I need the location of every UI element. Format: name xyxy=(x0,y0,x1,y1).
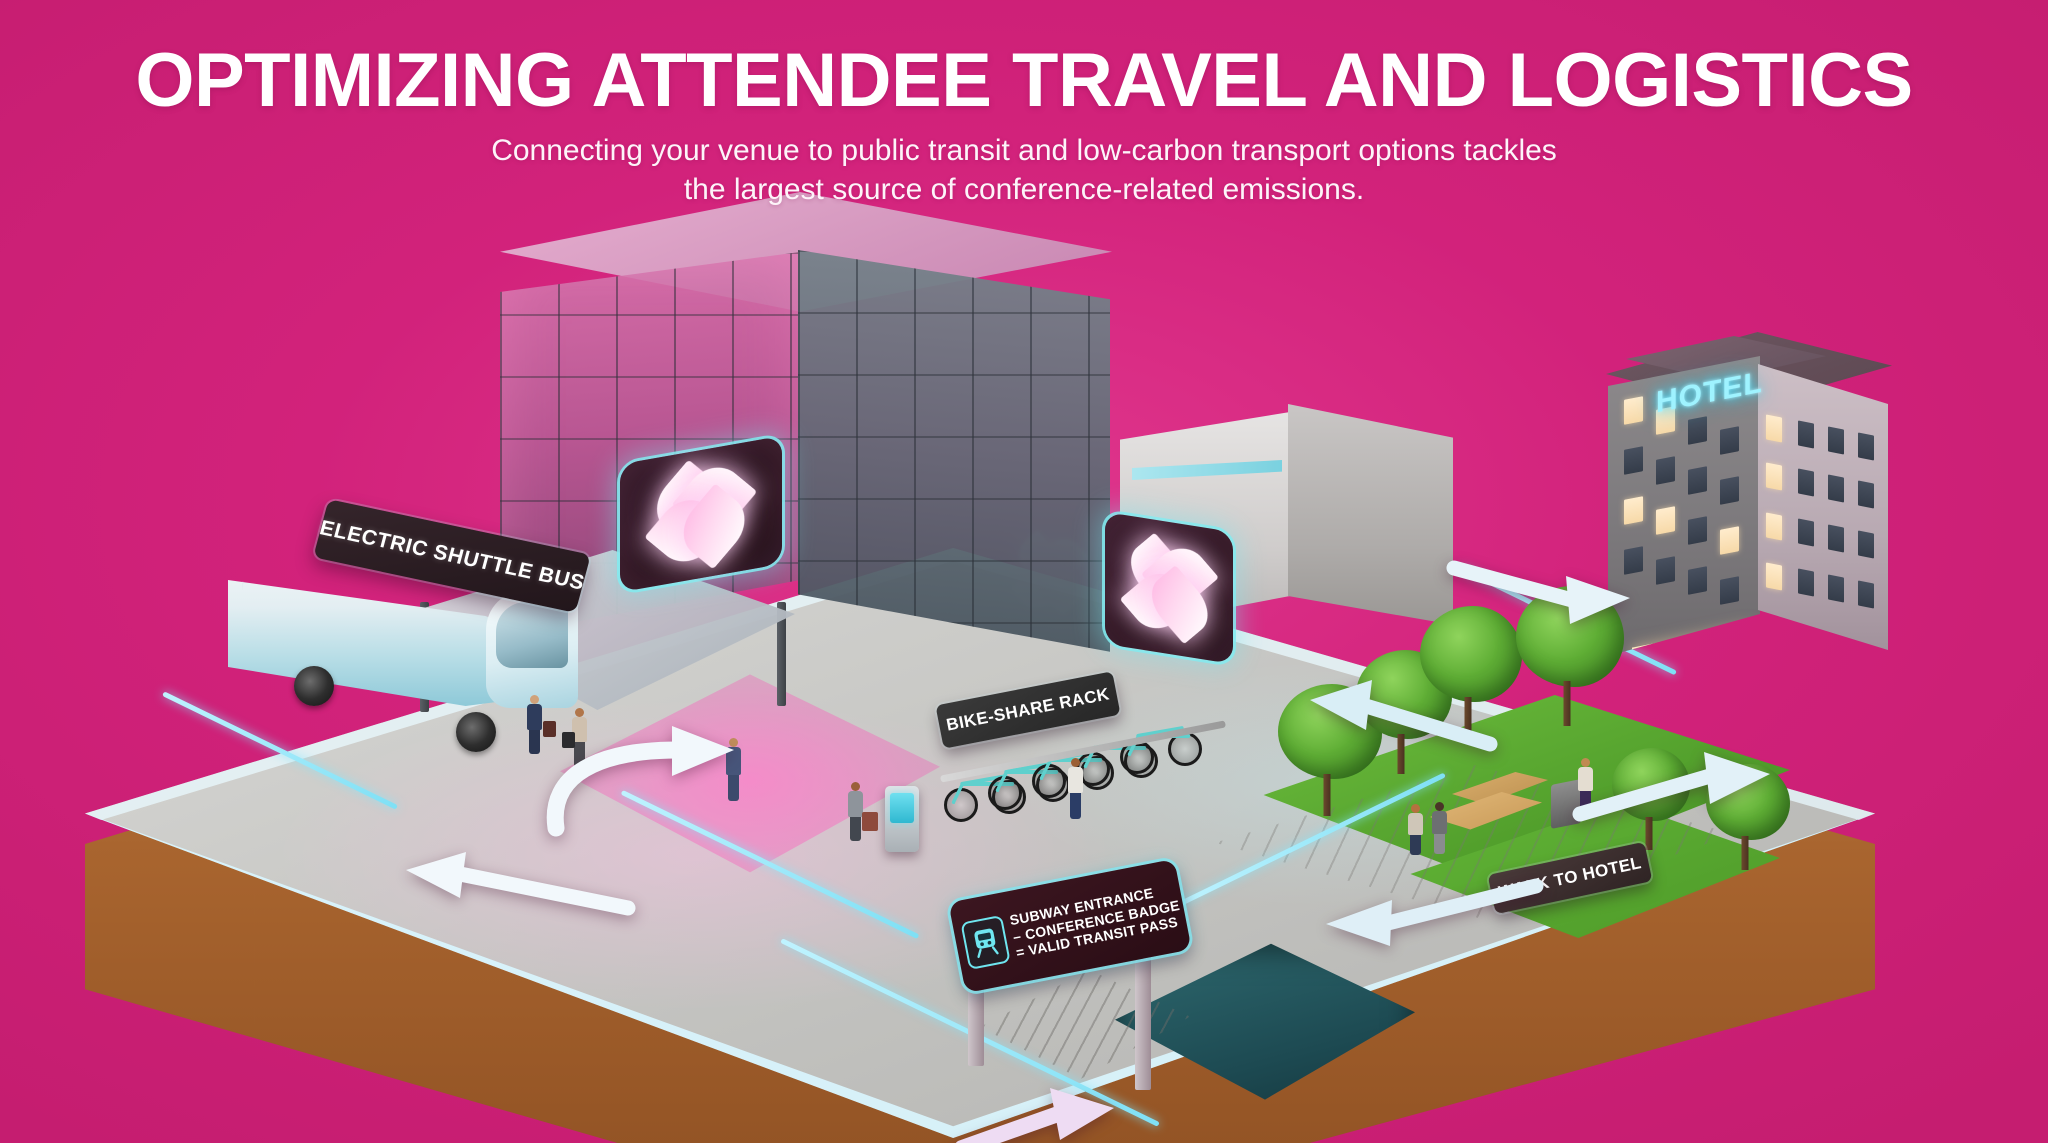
pedestrian xyxy=(1408,804,1423,855)
wayfinding-arrow-to-bus-stop xyxy=(398,850,648,926)
subway-sign-post-right xyxy=(1135,950,1151,1090)
bus-windshield xyxy=(496,602,568,668)
tree-trunk xyxy=(1323,774,1330,816)
train-icon xyxy=(960,915,1010,970)
subway-sign-text: SUBWAY ENTRANCE – CONFERENCE BADGE = VAL… xyxy=(1008,880,1184,961)
four-petal-flower-icon xyxy=(1105,512,1233,664)
venue-glass-mullions-right xyxy=(798,250,1110,660)
neon-flower-sign-b xyxy=(1105,512,1233,664)
bus-wheel xyxy=(456,712,496,752)
tree-trunk xyxy=(1742,836,1749,870)
subtitle-line-2: the largest source of conference-related… xyxy=(0,171,2048,209)
info-kiosk[interactable] xyxy=(885,786,919,852)
tree-trunk xyxy=(1563,681,1570,726)
attendee-with-suitcase xyxy=(848,782,863,841)
page-subtitle: Connecting your venue to public transit … xyxy=(0,132,2048,209)
pedestrian xyxy=(1432,802,1447,854)
header: OPTIMIZING ATTENDEE TRAVEL AND LOGISTICS… xyxy=(0,0,2048,209)
subtitle-line-1: Connecting your venue to public transit … xyxy=(0,132,2048,170)
wayfinding-arrow-to-hotel xyxy=(1440,538,1640,630)
kiosk-screen-icon[interactable] xyxy=(890,793,914,823)
wayfinding-arrow-plaza-return xyxy=(1310,862,1550,948)
page-title: OPTIMIZING ATTENDEE TRAVEL AND LOGISTICS xyxy=(0,44,2048,118)
isometric-diorama: HOTEL xyxy=(0,150,2048,1143)
hotel-right-facade xyxy=(1758,364,1888,650)
infographic-canvas: OPTIMIZING ATTENDEE TRAVEL AND LOGISTICS… xyxy=(0,0,2048,1143)
venue-right-facade xyxy=(798,250,1110,660)
hotel-building: HOTEL xyxy=(1598,298,1908,658)
cyclist-at-rack xyxy=(1068,758,1083,819)
wayfinding-arrow-bus-to-entrance xyxy=(538,710,788,850)
bus-wheel xyxy=(294,666,334,706)
wayfinding-arrow-walk-to-hotel xyxy=(1568,748,1788,838)
wayfinding-arrow-to-subway xyxy=(948,1068,1128,1143)
wayfinding-arrow-venue-to-plaza xyxy=(1300,670,1510,760)
